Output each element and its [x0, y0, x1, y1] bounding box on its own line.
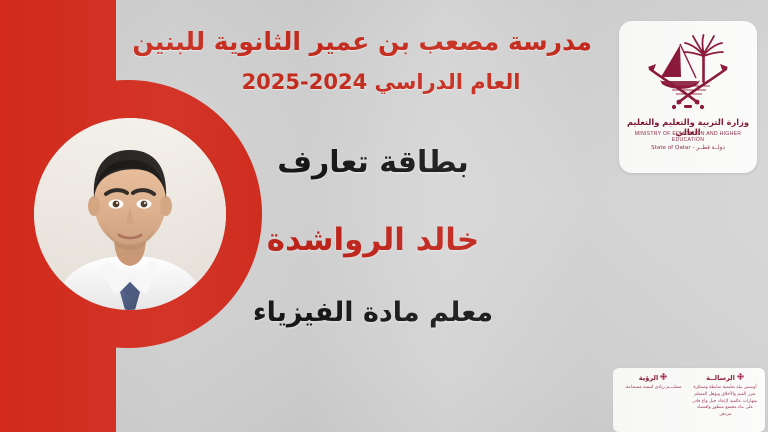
ministry-logo-card: وزارة التربية والتعليم والتعليم العالي M… — [619, 21, 757, 173]
flower-ornament-icon — [660, 373, 667, 382]
mission-heading: الرسالــة — [706, 374, 735, 382]
vision-mission-card: الرؤية متعلــــم ريادي لتنمية مستدامة. ا… — [613, 368, 765, 432]
mission-body: أوسس بيئة تعليمية ضابطة ومبتكرة تعزز الق… — [691, 385, 759, 419]
vision-heading: الرؤية — [639, 374, 658, 382]
qatar-emblem-icon — [640, 33, 736, 119]
vision-column: الرؤية متعلــــم ريادي لتنمية مستدامة. — [617, 373, 689, 428]
vision-body: متعلــــم ريادي لتنمية مستدامة. — [619, 385, 687, 392]
vision-heading-row: الرؤية — [619, 373, 687, 382]
flower-ornament-icon — [737, 373, 744, 382]
slide-canvas: مدرسة مصعب بن عمير الثانوية للبنين العام… — [0, 0, 768, 432]
avatar — [34, 118, 226, 310]
school-title: مدرسة مصعب بن عمير الثانوية للبنين — [172, 28, 592, 57]
ministry-state-line: دولــة قطــر - State of Qatar — [619, 145, 757, 151]
card-label: بطاقة تعارف — [233, 145, 513, 180]
person-name: خالد الرواشدة — [233, 222, 513, 258]
ministry-name-english: MINISTRY OF EDUCATION AND HIGHER EDUCATI… — [619, 131, 757, 143]
person-role: معلم مادة الفيزياء — [213, 297, 533, 328]
academic-year: العام الدراسي 2024-2025 — [216, 70, 546, 94]
portrait-frame — [34, 118, 226, 310]
mission-column: الرسالــة أوسس بيئة تعليمية ضابطة ومبتكر… — [689, 373, 761, 428]
mission-heading-row: الرسالــة — [691, 373, 759, 382]
